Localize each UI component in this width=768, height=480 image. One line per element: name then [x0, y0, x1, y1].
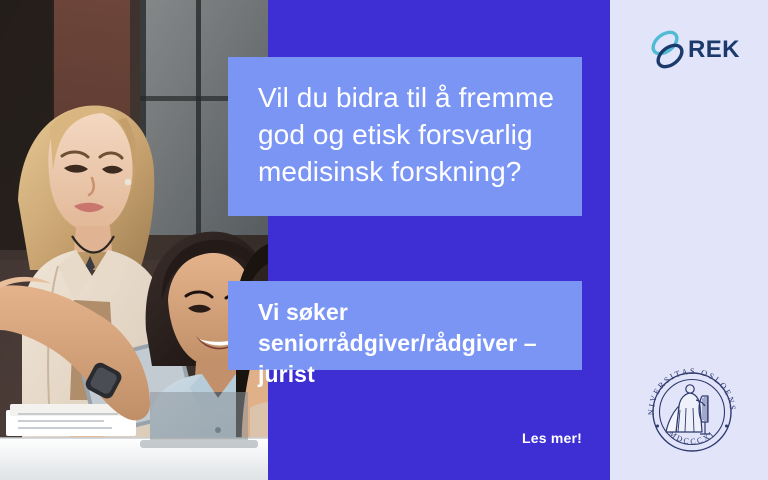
uio-seal: UNIVERSITAS OSLOENSIS MDCCCXI — [640, 360, 744, 464]
read-more-link[interactable]: Les mer! — [440, 430, 582, 446]
uio-seal-icon: UNIVERSITAS OSLOENSIS MDCCCXI — [640, 360, 744, 464]
rek-wordmark: REK — [688, 36, 740, 64]
role-textbox: Vi søker seniorrådgiver/rådgiver – juris… — [228, 281, 582, 370]
headline-text: Vil du bidra til å fremme god og etisk f… — [258, 79, 556, 190]
role-title-text: Vi søker seniorrådgiver/rådgiver – juris… — [258, 297, 562, 390]
rek-logo[interactable]: REK — [649, 28, 735, 74]
recruitment-banner: Vil du bidra til å fremme god og etisk f… — [0, 0, 768, 480]
rek-interlocking-loops-icon — [649, 28, 687, 72]
headline-textbox: Vil du bidra til å fremme god og etisk f… — [228, 57, 582, 216]
